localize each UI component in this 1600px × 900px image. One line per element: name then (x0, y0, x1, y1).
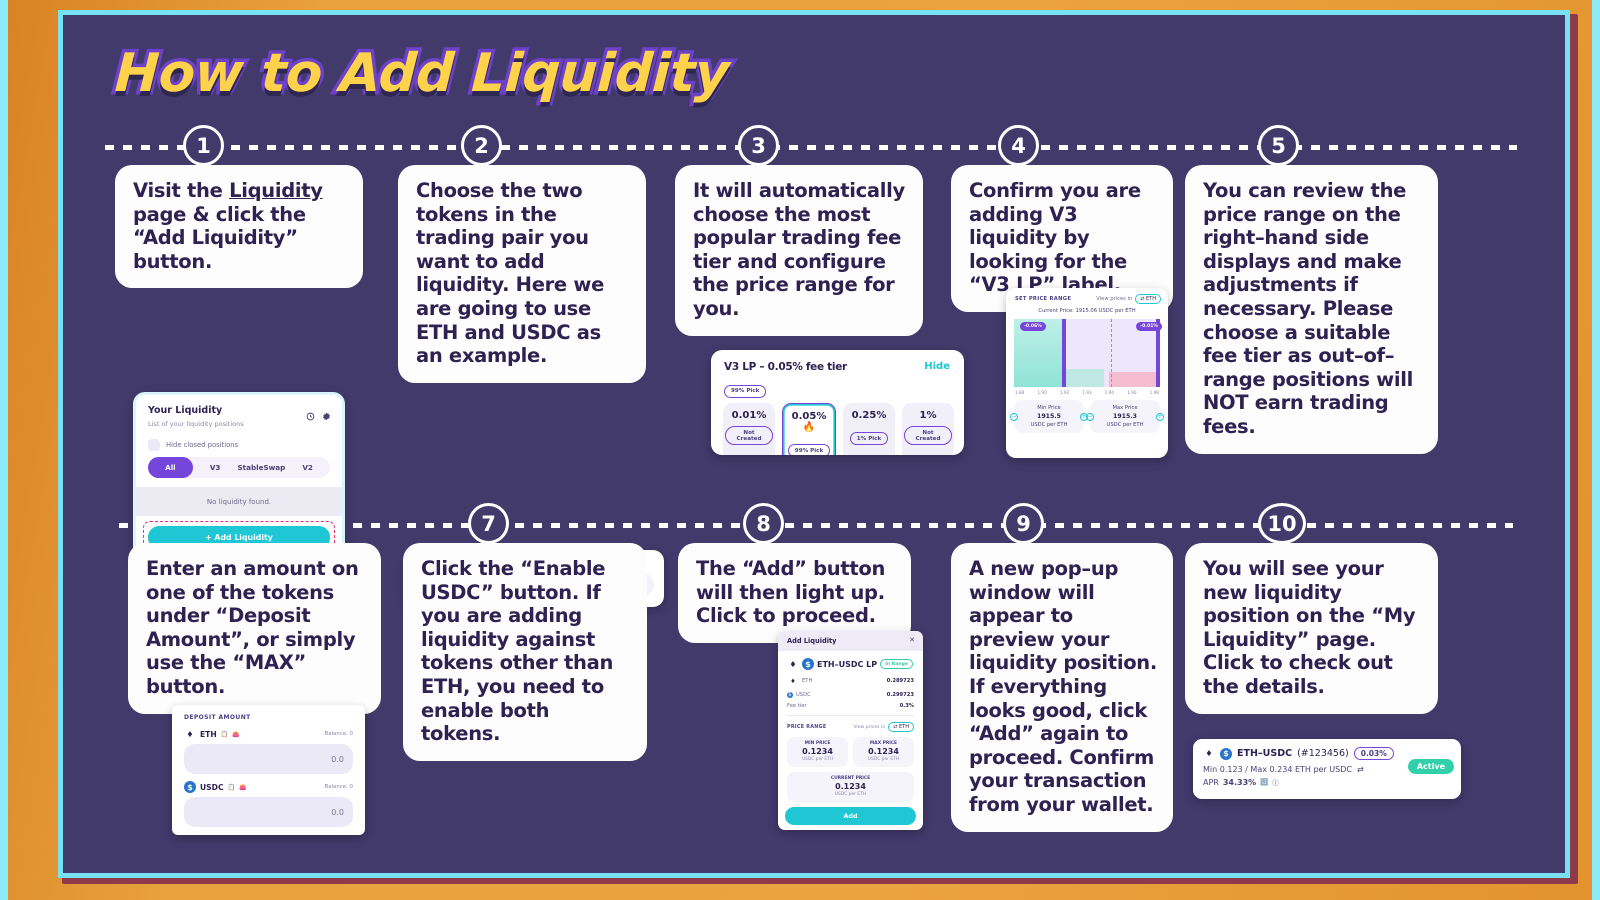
modal-row-eth: ♦ ETH 0.289723 (778, 670, 923, 687)
current-price-text: Current Price: 1915.06 USDC per ETH (1006, 304, 1168, 314)
your-liquidity-panel: Your Liquidity List of your liquidity po… (133, 392, 345, 564)
step-marker-5: 5 (1258, 125, 1299, 166)
deposit-token-label: USDC (200, 783, 224, 792)
minus-icon[interactable]: − (1010, 413, 1018, 421)
copy-icon[interactable]: 📋 (228, 784, 235, 791)
step-9-card: A new pop–up window will appear to previ… (951, 543, 1173, 832)
step-7-card: Click the “Enable USDC” button. If you a… (403, 543, 647, 761)
modal-title: Add Liquidity (778, 631, 923, 651)
label: CURRENT PRICE (787, 776, 914, 781)
row-amount: 0.299723 (887, 692, 914, 698)
axis-tick: 1.93 (1082, 390, 1091, 395)
position-range-text: Min 0.123 / Max 0.234 ETH per USDC (1203, 765, 1352, 774)
swap-arrows-icon[interactable]: ⇄ (1357, 765, 1364, 774)
fee-badge: Not Created (725, 426, 773, 445)
your-liquidity-title: Your Liquidity (148, 405, 330, 416)
fee-value: 1% (904, 410, 952, 421)
usdc-icon: $ (802, 658, 814, 670)
empty-state-text: No liquidity found. (136, 487, 342, 516)
step-1-text-b: page & click the “Add Liquidity” button. (133, 203, 306, 273)
hide-closed-positions-checkbox[interactable]: Hide closed positions (136, 432, 342, 455)
range-tag-left: -0.06% (1020, 322, 1046, 331)
max-price-label: Max Price (1092, 405, 1158, 411)
eth-icon: ♦ (787, 658, 799, 670)
max-price-value: 1915.3 (1092, 413, 1158, 420)
fee-badge: Not Created (904, 426, 952, 445)
hide-button[interactable]: Hide (924, 361, 950, 372)
step-marker-7: 7 (468, 503, 509, 544)
row-token: ETH (802, 678, 812, 684)
deposit-row-usdc: $ USDC 📋 👛 Balance: 0 (172, 774, 365, 793)
step-marker-10: 10 (1258, 503, 1306, 544)
tab-v3[interactable]: V3 (193, 463, 238, 472)
step-marker-9: 9 (1003, 503, 1044, 544)
plus-icon[interactable]: + (1156, 413, 1164, 421)
fee-value: 0.25% (845, 410, 893, 421)
row-token: USDC (796, 692, 811, 698)
min-price-label: Min Price (1016, 405, 1082, 411)
wallet-icon[interactable]: 👛 (239, 784, 246, 791)
modal-price-range-label: PRICE RANGE (787, 725, 826, 730)
min-price-stepper[interactable]: − Min Price 1915.5 USDC per ETH + (1014, 400, 1084, 433)
label: MAX PRICE (853, 741, 914, 746)
infographic-canvas: How to Add Liquidity 1 2 3 4 5 6 7 8 9 1… (58, 10, 1570, 878)
apr-value: 34.33% (1223, 778, 1256, 787)
deposit-input-value: 0.0 (331, 755, 344, 764)
modal-current-price: CURRENT PRICE 0.1234 USDC per ETH (787, 772, 914, 802)
step-10-screenshot-wrap: ♦ $ ETH–USDC (#123456) 0.03% Min 0.123 /… (1185, 543, 1475, 833)
value: 0.1234 (787, 747, 848, 756)
view-prices-chip[interactable]: ⇄ ETH (888, 722, 914, 732)
tab-v2[interactable]: V2 (285, 463, 330, 472)
deposit-row-eth: ♦ ETH 📋 👛 Balance: 0 (172, 721, 365, 740)
usdc-icon: $ (787, 692, 793, 698)
min-price-unit: USDC per ETH (1016, 422, 1082, 428)
label: MIN PRICE (787, 741, 848, 746)
axis-tick: 1.98 (1150, 390, 1159, 395)
tab-stableswap[interactable]: StableSwap (238, 463, 286, 472)
max-price-unit: USDC per ETH (1092, 422, 1158, 428)
apr-label: APR (1203, 778, 1219, 787)
step-3-screenshot-wrap: V3 LP – 0.05% fee tier Hide 99% Pick 0.0… (703, 160, 968, 470)
modal-add-button[interactable]: Add (785, 807, 916, 825)
usdc-icon: $ (184, 781, 196, 793)
checkbox-label: Hide closed positions (166, 441, 238, 449)
in-range-badge: In Range (880, 659, 913, 669)
max-price-stepper[interactable]: − Max Price 1915.3 USDC per ETH + (1090, 400, 1160, 433)
fee-option-0.01[interactable]: 0.01% Not Created (723, 403, 775, 456)
eth-icon: ♦ (787, 675, 799, 687)
fee-value: 0.01% (725, 410, 773, 421)
deposit-amount-panel: DEPOSIT AMOUNT ♦ ETH 📋 👛 Balance: 0 0.0 … (172, 705, 365, 835)
checkbox-box[interactable] (148, 439, 160, 451)
step-2-screenshot-wrap: CHOOSE TOKEN PAIR ♦ ETH ▾ + $ USDC ▾ (398, 345, 646, 425)
step-marker-1: 1 (183, 125, 224, 166)
deposit-input-eth[interactable]: 0.0 (184, 744, 353, 774)
history-icon[interactable] (306, 406, 315, 425)
position-id: (#123456) (1297, 748, 1349, 759)
set-price-range-label: SET PRICE RANGE (1015, 296, 1071, 302)
min-price-value: 1915.5 (1016, 413, 1082, 420)
step-5-card: You can review the price range on the ri… (1185, 165, 1438, 454)
liquidity-filter-tabs[interactable]: All V3 StableSwap V2 (148, 457, 330, 478)
fee-value: 0.05% 🔥 (785, 411, 833, 433)
deposit-input-value: 0.0 (331, 808, 344, 817)
my-liquidity-position-row[interactable]: ♦ $ ETH–USDC (#123456) 0.03% Min 0.123 /… (1193, 739, 1461, 799)
row-token: Fee tier (787, 703, 807, 709)
unit: USDC per ETH (787, 792, 914, 797)
view-prices-chip[interactable]: ⇄ ETH (1135, 294, 1161, 304)
your-liquidity-subtitle: List of your liquidity positions (148, 420, 330, 428)
deposit-balance: Balance: 0 (325, 784, 353, 790)
timeline-rail-top (105, 145, 1517, 150)
copy-icon[interactable]: 📋 (221, 731, 228, 738)
step-1-text-a: Visit the (133, 179, 229, 202)
modal-pair-label: ETH–USDC LP (817, 660, 877, 669)
status-badge: Active (1408, 759, 1454, 774)
deposit-input-usdc[interactable]: 0.0 (184, 797, 353, 827)
axis-tick: 1.90 (1037, 390, 1046, 395)
wallet-icon[interactable]: 👛 (232, 731, 239, 738)
modal-row-fee: Fee tier 0.3% (778, 698, 923, 709)
fee-badge: 99% Pick (788, 444, 830, 455)
row-amount: 0.3% (900, 703, 914, 709)
step-1-screenshot-wrap: Your Liquidity List of your liquidity po… (115, 270, 363, 485)
deposit-amount-label: DEPOSIT AMOUNT (172, 705, 365, 721)
fee-option-0.05[interactable]: 0.05% 🔥 99% Pick (782, 403, 836, 456)
flame-icon: 🔥 (803, 422, 815, 433)
range-tag-right: -0.01% (1136, 322, 1162, 331)
step-1-text-link: Liquidity (229, 179, 323, 202)
step-marker-2: 2 (461, 125, 502, 166)
view-prices-in-label: View prices in (1096, 296, 1132, 302)
step-8-screenshot-wrap: Add Liquidity ✕ ♦ $ ETH–USDC LP In Range… (678, 543, 938, 863)
axis-tick: 1.88 (1015, 390, 1024, 395)
page-title: How to Add Liquidity (113, 43, 730, 104)
calculator-icon[interactable]: 🔢 (1260, 778, 1268, 786)
unit: USDC per ETH (853, 757, 914, 762)
view-prices-in-label: View prices in (853, 725, 885, 730)
modal-max-price: MAX PRICE 0.1234 USDC per ETH (853, 737, 914, 767)
modal-min-price: MIN PRICE 0.1234 USDC per ETH (787, 737, 848, 767)
set-price-range-panel: SET PRICE RANGE View prices in ⇄ ETH Cur… (1006, 288, 1168, 458)
eth-icon: ♦ (1203, 748, 1215, 760)
fee-tier-panel: V3 LP – 0.05% fee tier Hide 99% Pick 0.0… (711, 350, 964, 455)
fee-option-1[interactable]: 1% Not Created (902, 403, 954, 456)
modal-pair-row: ♦ $ ETH–USDC LP In Range (778, 651, 923, 670)
selected-pick-pill: 99% Pick (724, 385, 766, 398)
fee-badge: 1% Pick (850, 432, 889, 445)
position-fee-badge: 0.03% (1354, 747, 1394, 760)
deposit-balance: Balance: 0 (325, 731, 353, 737)
position-pair: ETH–USDC (1237, 748, 1292, 759)
axis-tick: 1.94 (1105, 390, 1114, 395)
modal-row-usdc: $ USDC 0.299723 (778, 687, 923, 698)
fee-option-0.25[interactable]: 0.25% 1% Pick (843, 403, 895, 456)
help-circle-icon[interactable]: ⓘ (1272, 777, 1279, 787)
gear-icon[interactable] (322, 406, 331, 425)
eth-icon: ♦ (184, 728, 196, 740)
value: 0.1234 (787, 782, 914, 791)
axis-tick: 1.92 (1060, 390, 1069, 395)
add-liquidity-modal: Add Liquidity ✕ ♦ $ ETH–USDC LP In Range… (778, 631, 923, 830)
value: 0.1234 (853, 747, 914, 756)
minus-icon[interactable]: − (1086, 413, 1094, 421)
price-range-chart[interactable]: -0.06% -0.01% (1014, 319, 1160, 387)
tab-all[interactable]: All (148, 457, 193, 478)
deposit-token-label: ETH (200, 730, 217, 739)
axis-tick: 1.96 (1127, 390, 1136, 395)
unit: USDC per ETH (787, 757, 848, 762)
step-4-screenshot-wrap: SET PRICE RANGE View prices in ⇄ ETH Cur… (998, 160, 1178, 470)
step-6-screenshot-wrap: DEPOSIT AMOUNT ♦ ETH 📋 👛 Balance: 0 0.0 … (128, 543, 381, 843)
chart-x-axis: 1.88 1.90 1.92 1.93 1.94 1.96 1.98 (1006, 387, 1168, 395)
row-amount: 0.289723 (887, 678, 914, 684)
close-icon[interactable]: ✕ (909, 636, 915, 644)
usdc-icon: $ (1220, 748, 1232, 760)
step-marker-8: 8 (743, 503, 784, 544)
